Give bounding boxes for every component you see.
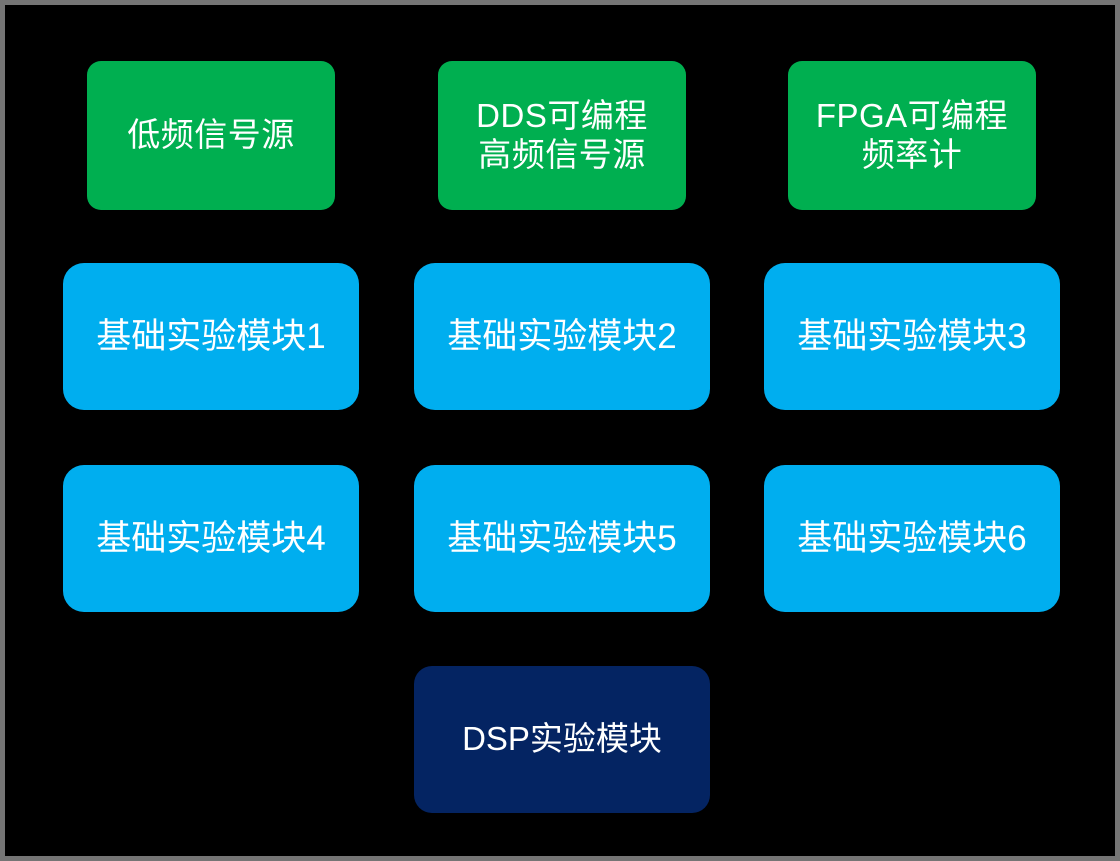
node-label: 基础实验模块2	[441, 316, 682, 357]
node-label: 基础实验模块3	[791, 316, 1032, 357]
node-label: 低频信号源	[121, 116, 301, 155]
node-dds-programmable-high-frequency-signal-source[interactable]: DDS可编程 高频信号源	[438, 61, 686, 210]
node-basic-experiment-module-3[interactable]: 基础实验模块3	[764, 263, 1060, 410]
node-low-frequency-signal-source[interactable]: 低频信号源	[87, 61, 335, 210]
node-dsp-experiment-module[interactable]: DSP实验模块	[414, 666, 710, 813]
node-label: DSP实验模块	[456, 720, 668, 759]
node-label: 基础实验模块1	[90, 316, 331, 357]
node-basic-experiment-module-2[interactable]: 基础实验模块2	[414, 263, 710, 410]
node-basic-experiment-module-1[interactable]: 基础实验模块1	[63, 263, 359, 410]
node-fpga-programmable-frequency-counter[interactable]: FPGA可编程 频率计	[788, 61, 1036, 210]
node-basic-experiment-module-5[interactable]: 基础实验模块5	[414, 465, 710, 612]
node-label: 基础实验模块4	[90, 518, 331, 559]
node-label: 基础实验模块6	[791, 518, 1032, 559]
node-label: DDS可编程 高频信号源	[470, 97, 654, 175]
node-basic-experiment-module-6[interactable]: 基础实验模块6	[764, 465, 1060, 612]
node-label: 基础实验模块5	[441, 518, 682, 559]
node-basic-experiment-module-4[interactable]: 基础实验模块4	[63, 465, 359, 612]
diagram-canvas: 低频信号源 DDS可编程 高频信号源 FPGA可编程 频率计 基础实验模块1 基…	[0, 0, 1120, 861]
node-label: FPGA可编程 频率计	[810, 97, 1014, 175]
